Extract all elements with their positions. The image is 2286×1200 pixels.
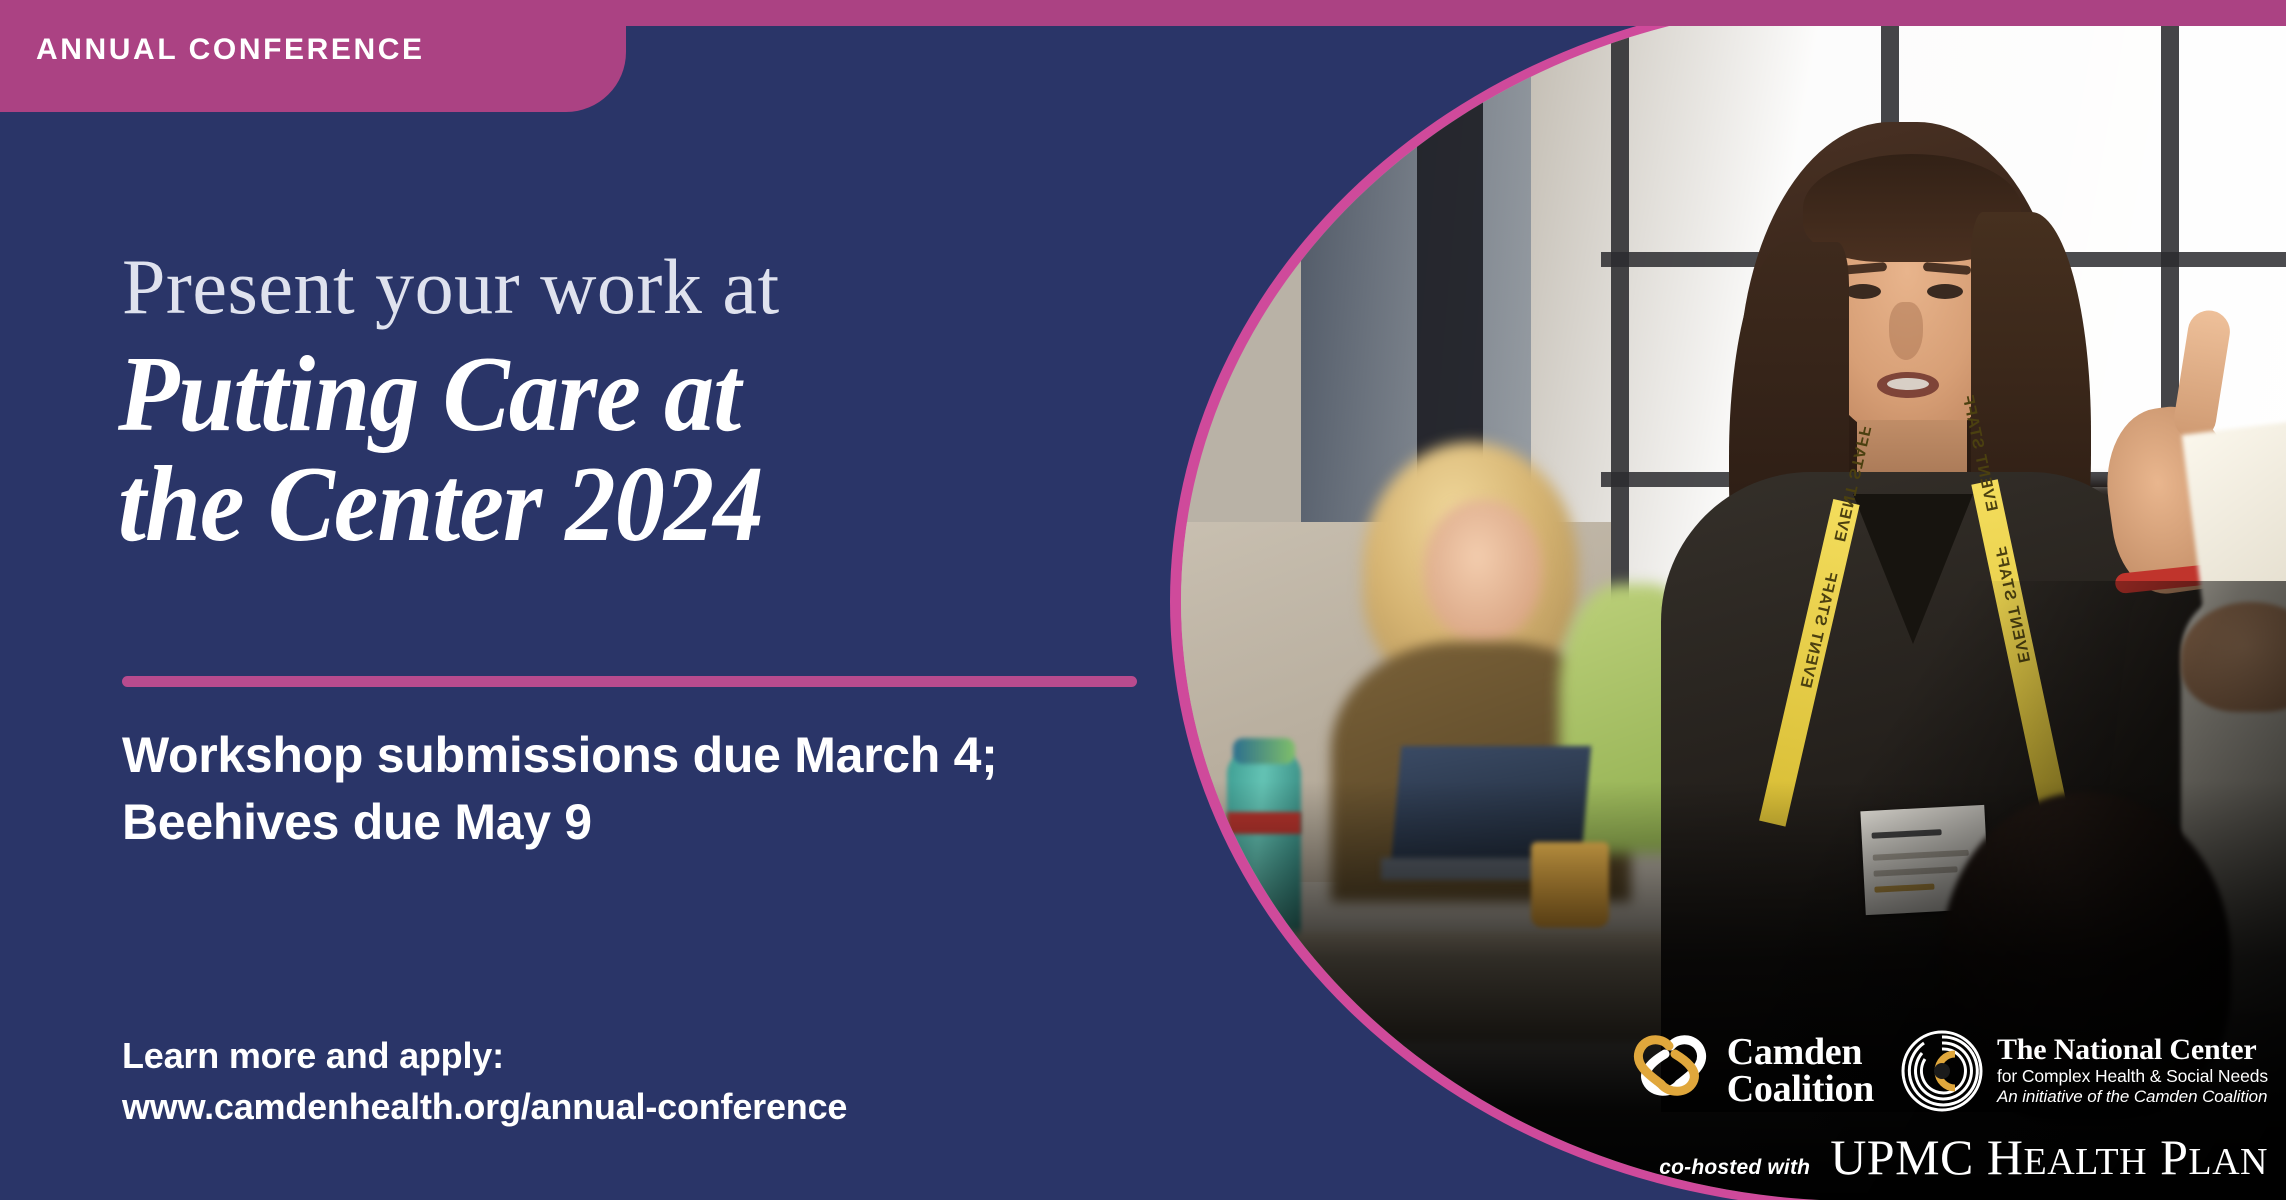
- headline-line-1: Putting Care at: [118, 340, 763, 450]
- annual-conference-tab: ANNUAL CONFERENCE: [0, 0, 626, 112]
- health-rest: EALTH: [2024, 1141, 2148, 1183]
- cta-url[interactable]: www.camdenhealth.org/annual-conference: [122, 1081, 847, 1132]
- upmc-text: UPMC: [1830, 1129, 1974, 1185]
- pink-divider-rule: [122, 676, 1137, 687]
- national-center-logo: The National Center for Complex Health &…: [1900, 1029, 2268, 1113]
- call-to-action: Learn more and apply: www.camdenhealth.o…: [122, 1030, 847, 1132]
- logo-row-primary: Camden Coalition The National: [1608, 1028, 2268, 1114]
- conference-photo: EVENT STAFF EVENT STAFF EVENT STAFF EVEN…: [1181, 2, 2286, 1200]
- deadline-line-2: Beehives due May 9: [122, 789, 997, 856]
- national-center-wordmark: The National Center for Complex Health &…: [1997, 1034, 2268, 1108]
- cta-label: Learn more and apply:: [122, 1030, 847, 1081]
- deadline-line-1: Workshop submissions due March 4;: [122, 722, 997, 789]
- plan-rest: LAN: [2188, 1141, 2268, 1183]
- annual-conference-label: ANNUAL CONFERENCE: [36, 33, 425, 67]
- speaker-eye: [1927, 284, 1963, 299]
- national-center-line-2: for Complex Health & Social Needs: [1997, 1066, 2268, 1087]
- national-center-concentric-circles-icon: [1900, 1029, 1984, 1113]
- attendee-blonde-face: [1424, 500, 1542, 642]
- camden-coalition-logo: Camden Coalition: [1627, 1028, 1874, 1114]
- national-center-line-1: The National Center: [1997, 1034, 2268, 1066]
- water-bottle-cap: [1233, 738, 1295, 764]
- photo-clip-mask: EVENT STAFF EVENT STAFF EVENT STAFF EVEN…: [1181, 2, 2286, 1200]
- kicker-text: Present your work at: [122, 248, 780, 326]
- health-initial: H: [1987, 1129, 2024, 1185]
- speaker-eye: [1845, 284, 1881, 299]
- speaker-nose: [1889, 302, 1923, 360]
- headline-line-2: the Center 2024: [118, 450, 763, 560]
- window-mullion: [1611, 2, 1629, 662]
- deadline-text: Workshop submissions due March 4; Beehiv…: [122, 722, 997, 856]
- conference-photo-panel: EVENT STAFF EVENT STAFF EVENT STAFF EVEN…: [1280, 0, 2286, 1200]
- camden-coalition-interlocking-links-icon: [1627, 1028, 1713, 1114]
- national-center-line-3: An initiative of the Camden Coalition: [1997, 1087, 2268, 1108]
- camden-coalition-line-1: Camden: [1727, 1034, 1874, 1071]
- upmc-health-plan-wordmark: UPMC HEALTH PLAN: [1830, 1132, 2268, 1182]
- speaker-teeth: [1887, 378, 1929, 390]
- plan-initial: P: [2160, 1129, 2188, 1185]
- page-title: Putting Care at the Center 2024: [118, 340, 763, 560]
- cohosted-with-label: co-hosted with: [1659, 1156, 1810, 1180]
- conference-promo-poster: EVENT STAFF EVENT STAFF EVENT STAFF EVEN…: [0, 0, 2286, 1200]
- logo-lockup: Camden Coalition The National: [1608, 1028, 2268, 1182]
- cohost-row: co-hosted with UPMC HEALTH PLAN: [1608, 1132, 2268, 1182]
- camden-coalition-wordmark: Camden Coalition: [1727, 1034, 1874, 1108]
- camden-coalition-line-2: Coalition: [1727, 1071, 1874, 1108]
